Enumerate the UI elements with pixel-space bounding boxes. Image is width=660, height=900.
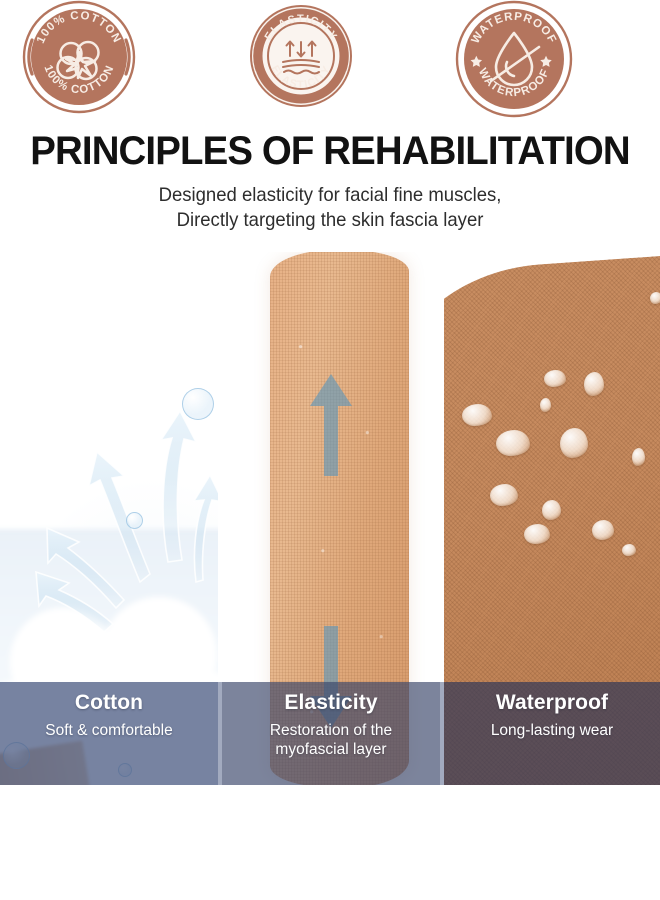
page-title: PRINCIPLES OF REHABILITATION <box>13 130 647 172</box>
water-droplet <box>584 372 604 396</box>
elastic-fabric-photo <box>222 252 440 785</box>
badge-cotton: 100% COTTON 100% COTTON <box>22 0 136 114</box>
water-droplet <box>540 398 551 412</box>
header: PRINCIPLES OF REHABILITATION Designed el… <box>0 130 660 234</box>
feature-panels <box>0 252 660 785</box>
water-droplet <box>592 520 614 540</box>
water-droplet <box>632 448 645 466</box>
badge-waterproof: WATERPROOF WATERPROOF <box>455 0 573 118</box>
bubble <box>182 388 214 420</box>
stretch-up-arrow-icon <box>308 370 354 480</box>
water-droplet <box>462 404 492 426</box>
breathability-arrows-icon <box>0 252 218 785</box>
panel-waterproof <box>444 252 660 785</box>
water-droplet <box>560 428 588 458</box>
waterproof-fabric-photo <box>444 252 660 785</box>
water-droplet <box>542 500 561 520</box>
water-droplet <box>622 544 636 556</box>
water-droplet <box>524 524 550 544</box>
water-droplet <box>490 484 518 506</box>
subtitle-line-2: Directly targeting the skin fascia layer <box>17 208 644 233</box>
infographic-page: PRINCIPLES OF REHABILITATION Designed el… <box>0 0 660 900</box>
water-droplet <box>496 430 530 456</box>
bubble <box>126 512 143 529</box>
badge-elasticity: ELASTICITY ELASTICITY <box>249 4 353 108</box>
stretch-down-arrow-icon <box>308 622 354 732</box>
bubble <box>3 742 30 769</box>
page-subtitle: Designed elasticity for facial fine musc… <box>17 183 644 234</box>
cotton-photo <box>0 252 218 785</box>
panel-cotton <box>0 252 218 785</box>
water-droplet <box>650 292 660 304</box>
water-droplet <box>544 370 566 387</box>
subtitle-line-1: Designed elasticity for facial fine musc… <box>17 183 644 208</box>
bubble <box>118 763 132 777</box>
panel-elasticity <box>222 252 440 785</box>
